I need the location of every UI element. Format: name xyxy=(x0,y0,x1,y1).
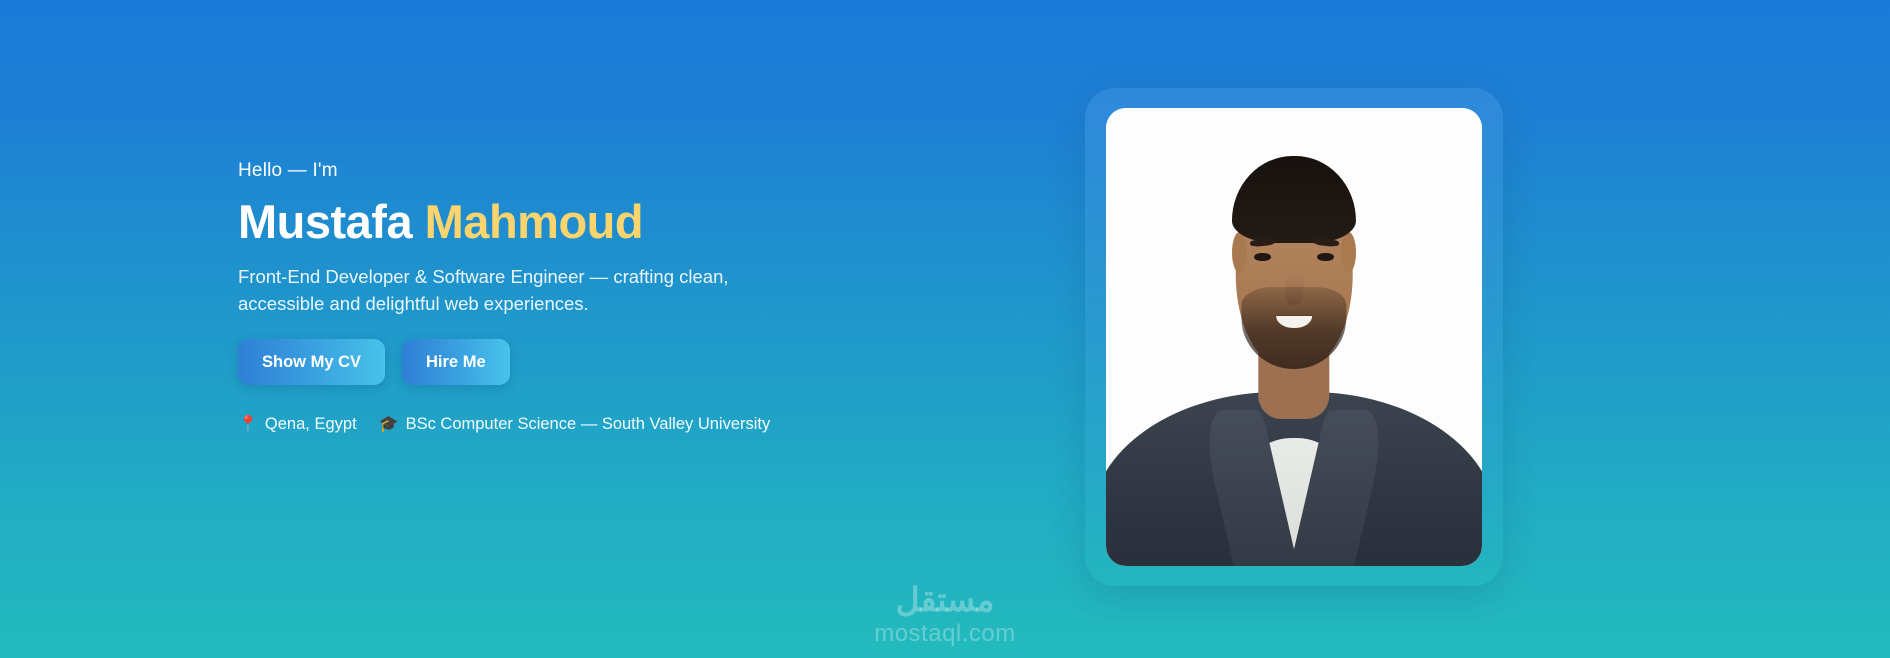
portrait-ear-left xyxy=(1232,232,1247,273)
profile-photo xyxy=(1106,108,1482,566)
last-name: Mahmoud xyxy=(425,195,643,248)
meta-item-education: 🎓 BSc Computer Science — South Valley Un… xyxy=(379,415,771,434)
hero-meta-row: 📍 Qena, Egypt 🎓 BSc Computer Science — S… xyxy=(238,415,878,434)
location-label: Qena, Egypt xyxy=(265,415,357,434)
profile-photo-frame xyxy=(1106,108,1482,566)
portrait-beard xyxy=(1241,287,1346,369)
hero-button-row: Show My CV Hire Me xyxy=(238,339,878,385)
first-name: Mustafa xyxy=(238,195,412,248)
hire-me-button[interactable]: Hire Me xyxy=(402,339,510,385)
location-pin-icon: 📍 xyxy=(238,417,258,433)
hero-section: Hello — I'm Mustafa Mahmoud Front-End De… xyxy=(0,0,1890,658)
graduation-cap-icon: 🎓 xyxy=(379,417,399,433)
portrait-eye-left xyxy=(1254,253,1271,262)
portrait-hair xyxy=(1232,156,1356,243)
meta-item-location: 📍 Qena, Egypt xyxy=(238,415,357,434)
page-title: Mustafa Mahmoud xyxy=(238,196,878,249)
hero-eyebrow: Hello — I'm xyxy=(238,160,878,182)
education-label: BSc Computer Science — South Valley Univ… xyxy=(406,415,771,434)
portrait-ear-right xyxy=(1341,232,1356,273)
hero-tagline: Front-End Developer & Software Engineer … xyxy=(238,263,758,318)
profile-photo-card xyxy=(1085,88,1503,586)
watermark-latin-text: mostaql.com xyxy=(0,620,1890,648)
hero-text-column: Hello — I'm Mustafa Mahmoud Front-End De… xyxy=(238,160,878,434)
show-my-cv-button[interactable]: Show My CV xyxy=(238,339,385,385)
watermark-arabic-text: مستقل xyxy=(0,582,1890,618)
mostaql-watermark: مستقل mostaql.com xyxy=(0,582,1890,648)
